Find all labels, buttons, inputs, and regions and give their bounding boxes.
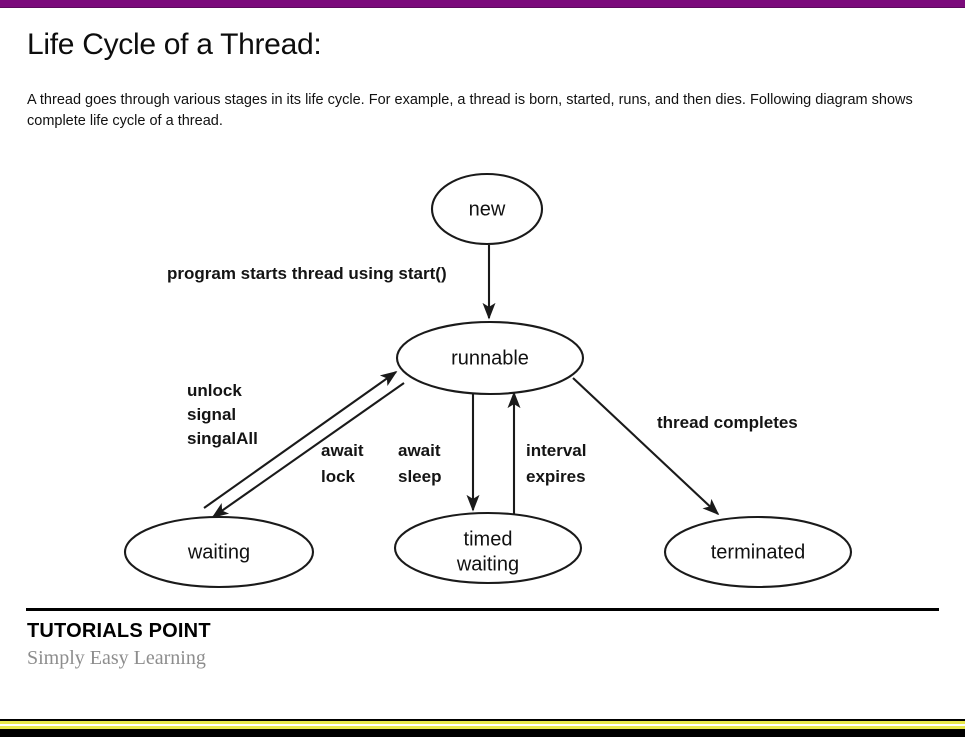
- node-runnable: runnable: [397, 322, 583, 394]
- edge-runnable-to-terminated: [573, 378, 718, 514]
- node-new: new: [432, 174, 542, 244]
- node-waiting: waiting: [125, 517, 313, 587]
- stripe-black-bottom: [0, 729, 965, 737]
- edge-label-await-sleep-line1: await: [398, 441, 441, 460]
- edge-label-unlock-line3: singalAll: [187, 429, 258, 448]
- edge-label-start-call: program starts thread using start(): [167, 264, 447, 283]
- thread-lifecycle-diagram: new runnable waiting timed waiting termi…: [0, 150, 965, 600]
- brand-tagline: Simply Easy Learning: [27, 647, 206, 670]
- edge-runnable-to-waiting: [213, 383, 404, 517]
- brand-name: TUTORIALS POINT: [27, 620, 211, 643]
- edge-label-unlock-line2: signal: [187, 405, 236, 424]
- top-accent-bar: [0, 0, 965, 8]
- node-new-label: new: [469, 198, 506, 220]
- edge-label-await-sleep-line2: sleep: [398, 467, 441, 486]
- edge-label-await-lock-line2: lock: [321, 467, 356, 486]
- bottom-stripe-band: [0, 719, 965, 737]
- footer-divider: [26, 608, 939, 611]
- node-runnable-label: runnable: [451, 347, 529, 369]
- node-timed-waiting-label-line1: timed: [464, 528, 513, 550]
- node-waiting-label: waiting: [187, 541, 250, 563]
- thread-lifecycle-svg: new runnable waiting timed waiting termi…: [0, 150, 965, 600]
- node-timed-waiting-label-line2: waiting: [456, 553, 519, 575]
- edge-label-thread-completes: thread completes: [657, 413, 798, 432]
- page-title: Life Cycle of a Thread:: [27, 28, 321, 62]
- node-timed-waiting: timed waiting: [395, 513, 581, 583]
- edge-label-await-lock-line1: await: [321, 441, 364, 460]
- edge-label-interval-line1: interval: [526, 441, 586, 460]
- intro-paragraph: A thread goes through various stages in …: [27, 90, 952, 132]
- edge-label-unlock-line1: unlock: [187, 381, 242, 400]
- edge-label-interval-line2: expires: [526, 467, 586, 486]
- node-terminated-label: terminated: [711, 541, 806, 563]
- node-terminated: terminated: [665, 517, 851, 587]
